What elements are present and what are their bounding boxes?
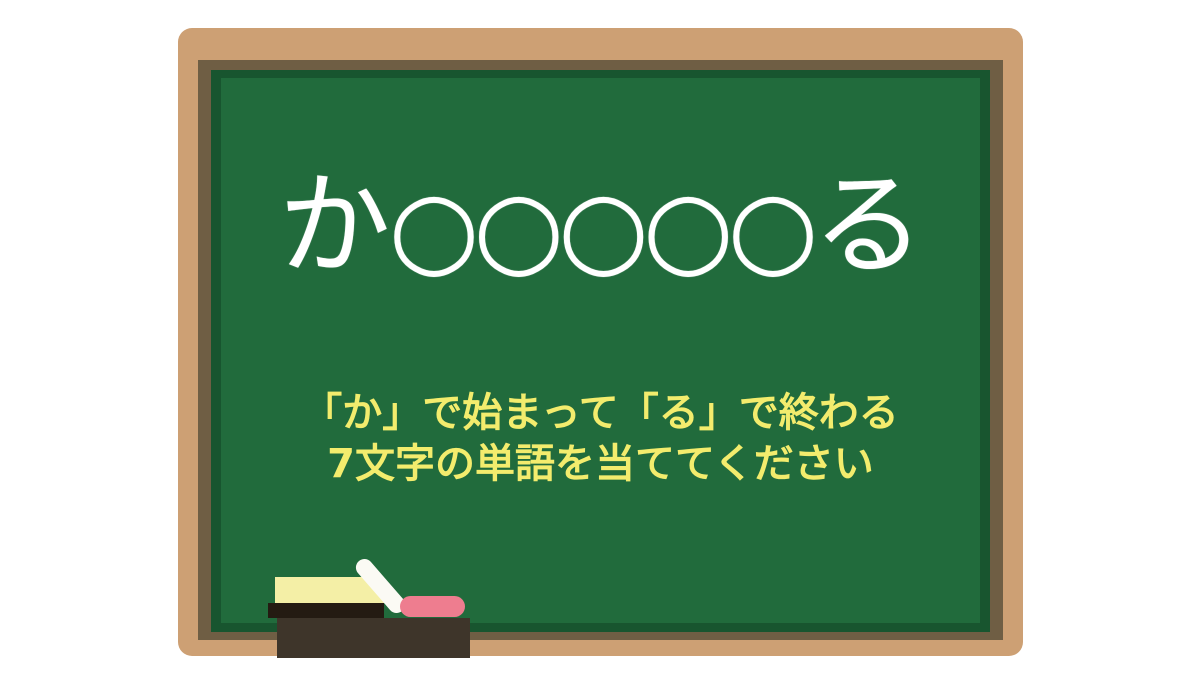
eraser-body-icon xyxy=(268,603,384,618)
hint-line-1: 「か」で始まって「る」で終わる xyxy=(221,388,980,439)
blackboard-scene: か○○○○○る 「か」で始まって「る」で終わる 7文字の単語を当ててください xyxy=(0,0,1200,700)
puzzle-word-line: か○○○○○る xyxy=(221,170,980,282)
hint-text-block: 「か」で始まって「る」で終わる 7文字の単語を当ててください xyxy=(221,388,980,490)
blackboard-wooden-frame: か○○○○○る 「か」で始まって「る」で終わる 7文字の単語を当ててください xyxy=(178,28,1023,656)
blackboard-writing-surface: か○○○○○る 「か」で始まって「る」で終わる 7文字の単語を当ててください xyxy=(221,78,980,623)
blackboard-green-rim: か○○○○○る 「か」で始まって「る」で終わる 7文字の単語を当ててください xyxy=(211,70,990,632)
blackboard-inner-bevel: か○○○○○る 「か」で始まって「る」で終わる 7文字の単語を当ててください xyxy=(198,60,1003,640)
puzzle-last-character: る xyxy=(812,161,922,291)
puzzle-blank-circles: ○○○○○ xyxy=(389,167,813,289)
chalk-tray-ledge xyxy=(277,618,470,658)
puzzle-first-character: か xyxy=(279,161,389,291)
hint-line-2: 7文字の単語を当ててください xyxy=(221,439,980,490)
pink-chalk-icon xyxy=(400,596,465,617)
